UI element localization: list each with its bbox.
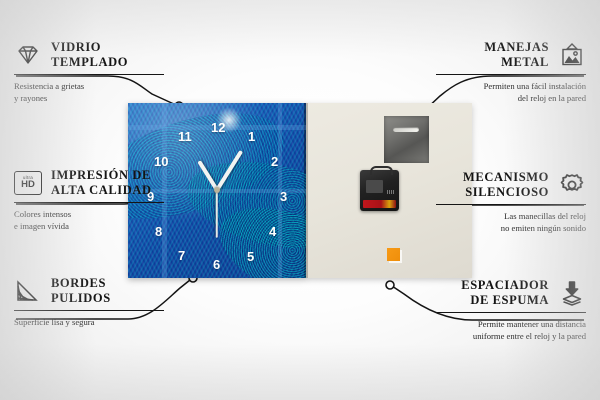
feature-desc-line1: Superficie lisa y segura <box>14 316 229 328</box>
feature-desc-line2: e imagen vívida <box>14 220 229 232</box>
clock-number-3: 3 <box>280 190 287 203</box>
ultra-hd-icon: ultra HD <box>14 169 42 197</box>
feature-desc-line1: Colores intensos <box>14 208 229 220</box>
feature-title-line2: ALTA CALIDAD <box>51 183 152 198</box>
divider <box>14 202 164 203</box>
polished-edge-icon <box>14 277 42 305</box>
feature-title-line2: PULIDOS <box>51 291 111 306</box>
divider <box>436 312 586 313</box>
divider <box>14 310 164 311</box>
divider <box>14 74 164 75</box>
feature-vidrio-templado: VIDRIO TEMPLADO Resistencia a grietas y … <box>14 40 229 104</box>
infographic-canvas: 12 1 2 3 4 5 6 7 8 9 10 11 <box>0 0 600 400</box>
gear-icon <box>558 171 586 199</box>
feature-desc-line2: no emiten ningún sonido <box>371 222 586 234</box>
feature-desc-line1: Permiten una fácil instalación <box>371 80 586 92</box>
clock-number-12: 12 <box>211 121 225 134</box>
clock-number-5: 5 <box>247 250 254 263</box>
feature-mecanismo-silencioso: MECANISMO SILENCIOSO Las manecillas del … <box>371 170 586 234</box>
feature-espaciador-espuma: ESPACIADOR DE ESPUMA Permite mantener un… <box>371 278 586 342</box>
feature-desc-line1: Permite mantener una distancia <box>371 318 586 330</box>
feature-title-line2: TEMPLADO <box>51 55 128 70</box>
feature-title-line2: SILENCIOSO <box>463 185 549 200</box>
feature-title-line1: IMPRESIÓN DE <box>51 168 152 183</box>
feature-desc-line2: uniforme entre el reloj y la pared <box>371 330 586 342</box>
feature-manejas-metal: MANEJAS METAL Permiten una fácil instala… <box>371 40 586 104</box>
feature-title-line1: MANEJAS <box>484 40 549 55</box>
feature-title-line1: BORDES <box>51 276 111 291</box>
clock-number-11: 11 <box>178 130 192 143</box>
feature-title-line1: ESPACIADOR <box>461 278 549 293</box>
feature-title-line1: VIDRIO <box>51 40 128 55</box>
feature-desc-line2: y rayones <box>14 92 229 104</box>
clock-number-1: 1 <box>248 130 255 143</box>
feature-desc-line1: Resistencia a grietas <box>14 80 229 92</box>
metal-hanger-plate <box>384 116 429 163</box>
feature-bordes-pulidos: BORDES PULIDOS Superficie lisa y segura <box>14 276 229 328</box>
picture-frame-hanger-icon <box>558 41 586 69</box>
feature-title-line2: METAL <box>484 55 549 70</box>
clock-number-7: 7 <box>178 249 185 262</box>
hanger-slot <box>393 127 419 132</box>
clock-number-6: 6 <box>213 258 220 271</box>
ultra-hd-icon-main-text: HD <box>21 180 35 190</box>
foam-spacer-arrow-icon <box>558 279 586 307</box>
divider <box>436 204 586 205</box>
feature-title-line2: DE ESPUMA <box>461 293 549 308</box>
clock-number-4: 4 <box>269 225 276 238</box>
feature-impresion-alta-calidad: ultra HD IMPRESIÓN DE ALTA CALIDAD Color… <box>14 168 229 232</box>
divider <box>436 74 586 75</box>
foam-spacer-pad <box>387 248 400 261</box>
feature-title-line1: MECANISMO <box>463 170 549 185</box>
clock-number-10: 10 <box>154 155 168 168</box>
diamond-icon <box>14 41 42 69</box>
feature-desc-line1: Las manecillas del reloj <box>371 210 586 222</box>
clock-number-2: 2 <box>271 155 278 168</box>
feature-desc-line2: del reloj en la pared <box>371 92 586 104</box>
